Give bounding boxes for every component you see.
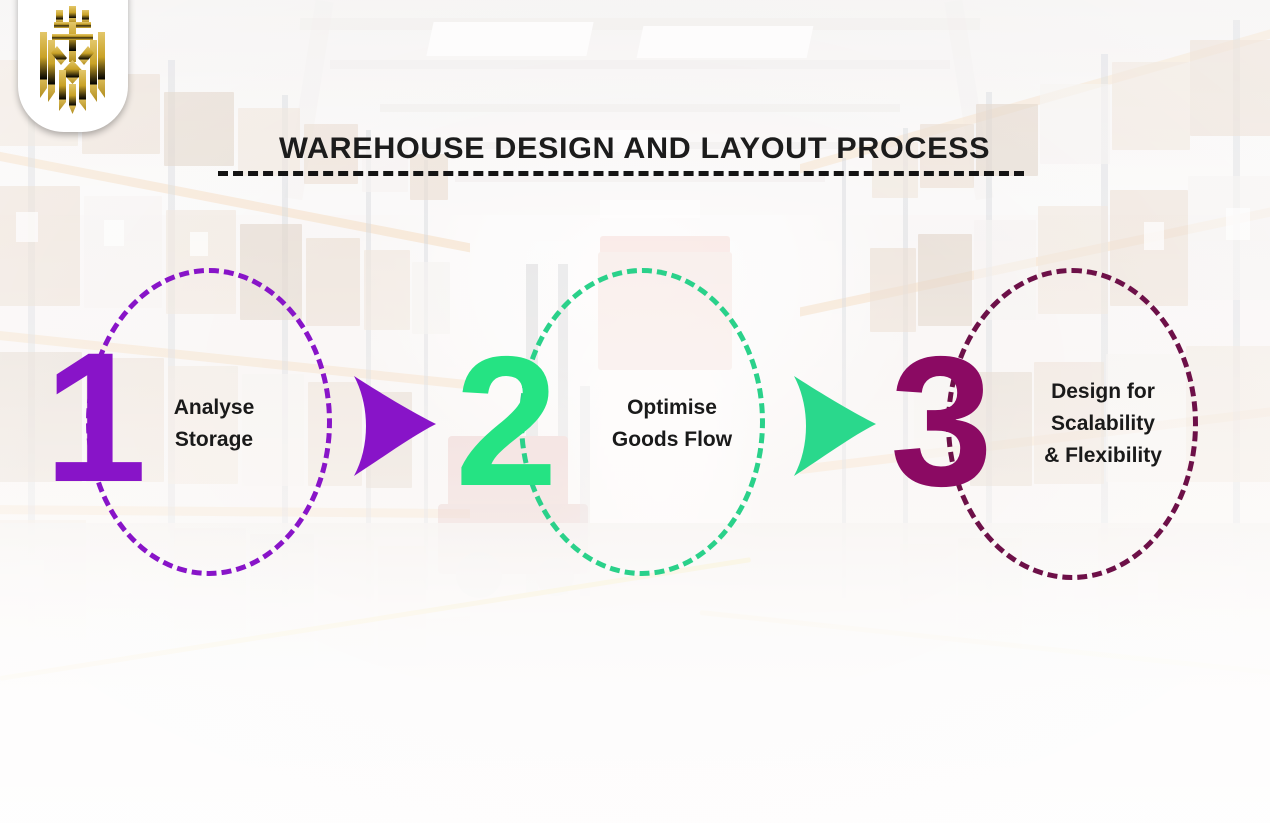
process-steps: 1 Analyse Storage 2 Optimise Goods Flow … xyxy=(0,0,1270,823)
step-1-label: Analyse Storage xyxy=(140,392,288,456)
step-3-label-line1: Design for xyxy=(1051,380,1155,403)
step-2-label-line1: Optimise xyxy=(627,396,717,419)
step-2-label: Optimise Goods Flow xyxy=(578,392,766,456)
step-3-label-line2: Scalability xyxy=(1051,412,1155,435)
step-1-label-line2: Storage xyxy=(175,428,253,451)
step-1-label-line1: Analyse xyxy=(174,396,255,419)
step-1-number: 1 xyxy=(44,326,147,511)
arrow-right-icon xyxy=(788,372,882,480)
step-3-label-line3: & Flexibility xyxy=(1044,444,1162,467)
step-2-number: 2 xyxy=(455,330,558,515)
step-3-label: Design for Scalability & Flexibility xyxy=(1008,376,1198,472)
arrow-step1-to-step2 xyxy=(348,372,442,480)
arrow-right-icon xyxy=(348,372,442,480)
infographic-canvas: WAREHOUSE DESIGN AND LAYOUT PROCESS 1 An… xyxy=(0,0,1270,823)
step-2-label-line2: Goods Flow xyxy=(612,428,732,451)
step-3-number: 3 xyxy=(890,330,993,515)
arrow-step2-to-step3 xyxy=(788,372,882,480)
